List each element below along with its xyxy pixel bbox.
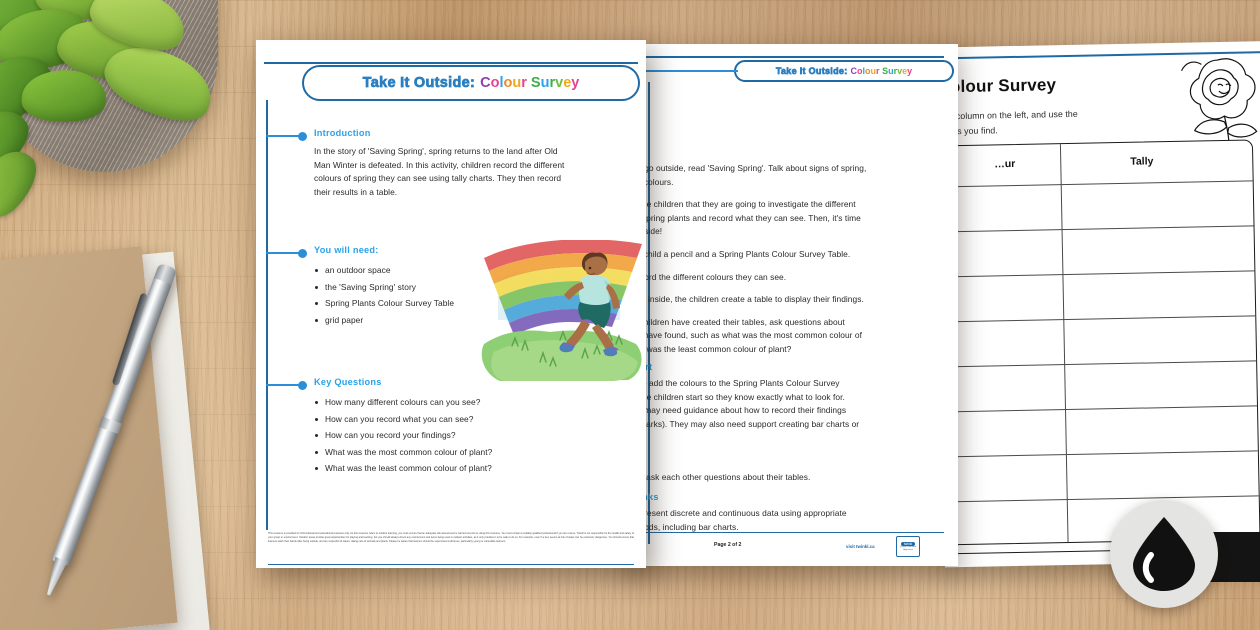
branch-key-questions — [266, 384, 300, 386]
dot-introduction — [298, 132, 307, 141]
branch-you-will-need — [266, 252, 300, 254]
page1-title-rainbow: Colour Survey — [480, 75, 579, 91]
page1-disclaimer: This resource is provided for informatio… — [268, 532, 634, 544]
worksheet-page-1[interactable]: Take It Outside: Colour Survey Introduct… — [256, 40, 646, 568]
ink-drop-icon — [1129, 515, 1199, 593]
page2-footer-rule — [642, 532, 944, 533]
page2-heading-links: …Links — [628, 492, 954, 502]
page2-body: …ou go outside, read 'Saving Spring'. Ta… — [628, 162, 954, 357]
heading-introduction: Introduction — [314, 128, 574, 138]
introduction-paragraph: In the story of 'Saving Spring', spring … — [314, 145, 574, 199]
page2-title-prefix: Take It Outside: — [776, 66, 848, 76]
page2-visit-link[interactable]: visit twinkl.ca — [846, 544, 875, 549]
page2-heading-support: …port — [628, 362, 954, 372]
dot-you-will-need — [298, 249, 307, 258]
page1-footer-rule — [268, 564, 634, 565]
page2-extend-section: …nd …uld ask each other questions about … — [628, 456, 954, 485]
list-item: How many different colours can you see? — [314, 397, 594, 407]
worksheet-page-3[interactable]: …ts Colour Survey …ind in the column on … — [935, 41, 1260, 568]
list-item: What was the least common colour of plan… — [314, 463, 594, 473]
page1-spine — [266, 100, 268, 530]
list-item: What was the most common colour of plant… — [314, 447, 594, 457]
page1-title-prefix: Take It Outside: — [363, 75, 476, 91]
rainbow-child-illustration — [478, 240, 646, 390]
page2-support-section: …port …h to add the colours to the Sprin… — [628, 362, 954, 431]
rose-illustration — [1173, 53, 1260, 147]
page2-page-number: Page 2 of 2 — [714, 542, 741, 548]
page2-title-suffix: Colour Survey — [851, 66, 913, 76]
section-introduction: Introduction In the story of 'Saving Spr… — [314, 128, 574, 199]
page3-instructions: …ind in the column on the left, and use … — [935, 104, 1209, 140]
colour-survey-table[interactable]: …ur Tally — [935, 139, 1260, 546]
list-item: How can you record what you can see? — [314, 414, 594, 424]
page2-title-banner: Take It Outside: Colour Survey — [734, 60, 954, 82]
list-item: How can you record your findings? — [314, 430, 594, 440]
branch-introduction — [266, 135, 300, 137]
page2-twinkl-badge: twinkl Quality Standard Approved — [896, 536, 920, 557]
section-key-questions: Key Questions How many different colours… — [314, 377, 594, 480]
page2-links-section: …Links …d present discrete and continuou… — [628, 492, 954, 534]
ink-drop-badge[interactable] — [1110, 500, 1218, 608]
table-header-tally: Tally — [1130, 155, 1153, 167]
worksheet-page-2[interactable]: Take It Outside: Colour Survey …ou go ou… — [628, 44, 958, 566]
dot-key-questions — [298, 381, 307, 390]
table-header-colour: …ur — [994, 158, 1015, 170]
page2-heading-extend: …nd — [628, 456, 954, 466]
page2-badge-sub: Quality Standard Approved — [897, 546, 919, 551]
page1-title-banner: Take It Outside: Colour Survey — [302, 65, 640, 101]
key-questions-list: How many different colours can you see? … — [314, 397, 594, 473]
